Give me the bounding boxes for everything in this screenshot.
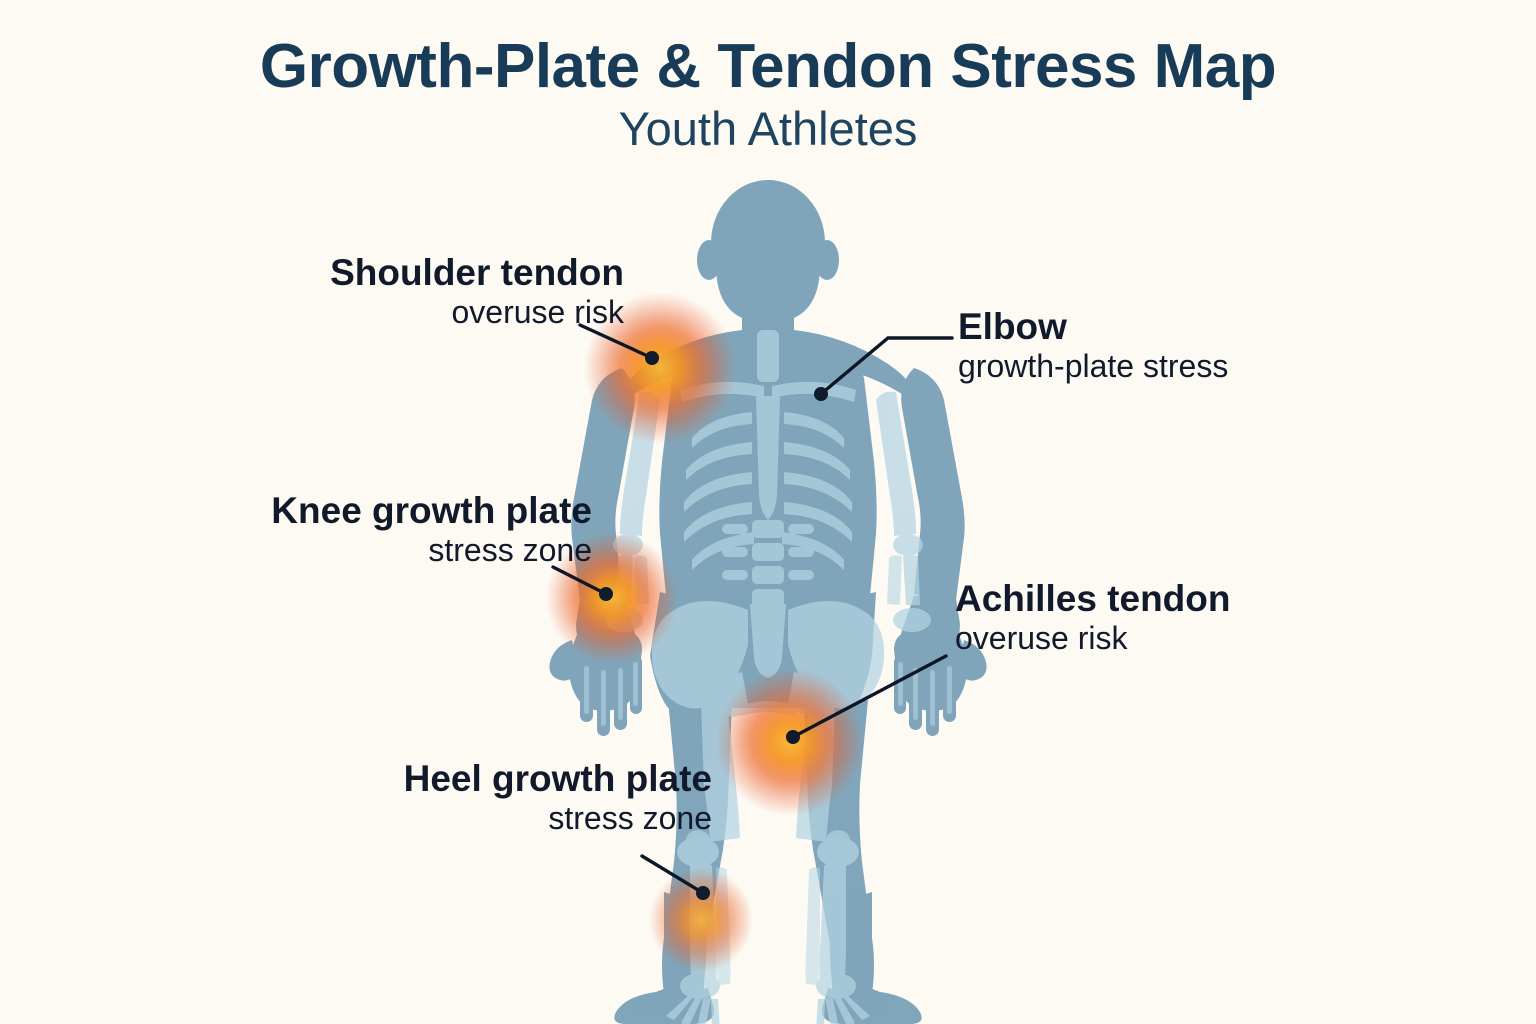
callout-achilles-tendon[interactable]: Achilles tendon overuse risk [955,578,1375,657]
callout-shoulder-tendon[interactable]: Shoulder tendon overuse risk [232,252,624,331]
callout-elbow-subtitle: growth-plate stress [958,349,1378,385]
leader-dot-shoulder [645,351,659,365]
callout-shoulder-subtitle: overuse risk [232,295,624,331]
ankle-hotspot [649,868,753,972]
leader-dot-elbow [814,387,828,401]
leader-dot-achilles [786,730,800,744]
diagram-canvas: Growth-Plate & Tendon Stress Map Youth A… [0,0,1536,1024]
leader-dot-knee [599,587,613,601]
callout-heel-subtitle: stress zone [302,801,712,837]
callout-knee-subtitle: stress zone [172,533,592,569]
leader-dot-heel [696,886,710,900]
callout-heel-title: Heel growth plate [302,758,712,799]
callout-achilles-title: Achilles tendon [955,578,1375,619]
callout-shoulder-title: Shoulder tendon [232,252,624,293]
callout-elbow[interactable]: Elbow growth-plate stress [958,306,1378,385]
callout-elbow-title: Elbow [958,306,1378,347]
callout-achilles-subtitle: overuse risk [955,621,1375,657]
callout-heel-growth-plate[interactable]: Heel growth plate stress zone [302,758,712,837]
callout-knee-title: Knee growth plate [172,490,592,531]
callout-knee-growth-plate[interactable]: Knee growth plate stress zone [172,490,592,569]
